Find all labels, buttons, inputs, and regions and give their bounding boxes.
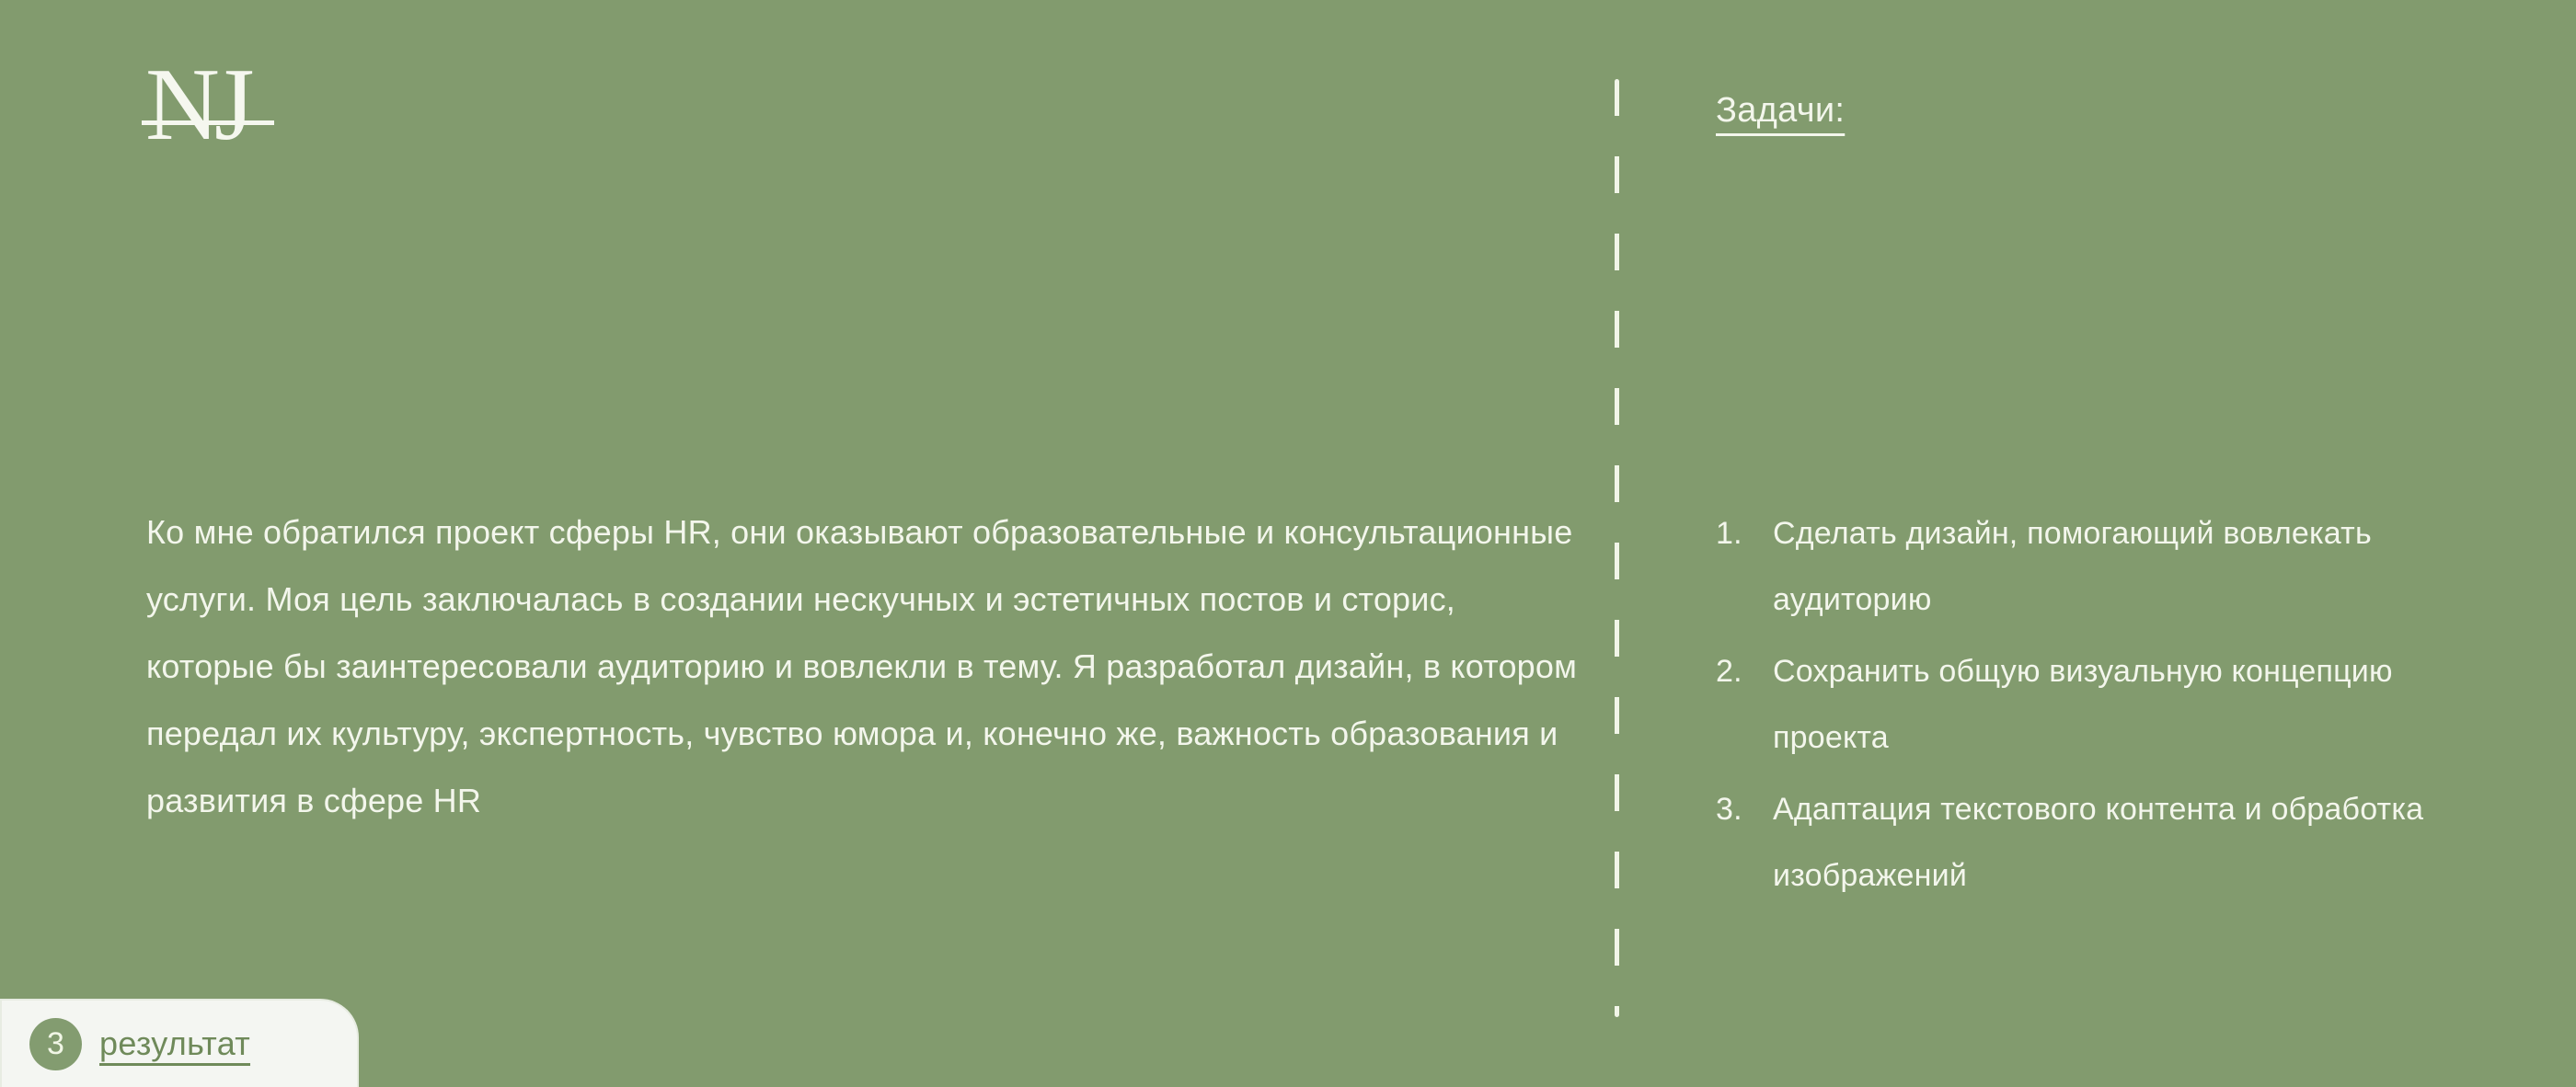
logo-strikethrough-bar [142, 120, 274, 125]
step-tab-label[interactable]: результат [99, 1021, 250, 1067]
list-item: 1. Сделать дизайн, помогающий вовлекать … [1716, 500, 2479, 633]
list-item: 3. Адаптация текстового контента и обраб… [1716, 776, 2479, 909]
step-tab-result[interactable]: 3 результат [0, 999, 359, 1087]
vertical-dashed-divider [1615, 79, 1619, 1017]
list-item-label: Адаптация текстового контента и обработк… [1773, 776, 2479, 909]
intro-paragraph: Ко мне обратился проект сферы HR, они ок… [146, 498, 1581, 834]
slide-root: NJ Ко мне обратился проект сферы HR, они… [0, 0, 2576, 1087]
logo-monogram: NJ [145, 57, 248, 153]
step-number-badge: 3 [29, 1018, 82, 1070]
list-item-number: 3. [1716, 776, 1773, 842]
list-item-number: 2. [1716, 638, 1773, 704]
list-item-number: 1. [1716, 500, 1773, 566]
tasks-list: 1. Сделать дизайн, помогающий вовлекать … [1716, 500, 2479, 914]
logo: NJ [145, 63, 274, 158]
list-item: 2. Сохранить общую визуальную концепцию … [1716, 638, 2479, 771]
list-item-label: Сохранить общую визуальную концепцию про… [1773, 638, 2479, 771]
list-item-label: Сделать дизайн, помогающий вовлекать ауд… [1773, 500, 2479, 633]
tasks-heading: Задачи: [1716, 88, 1845, 132]
